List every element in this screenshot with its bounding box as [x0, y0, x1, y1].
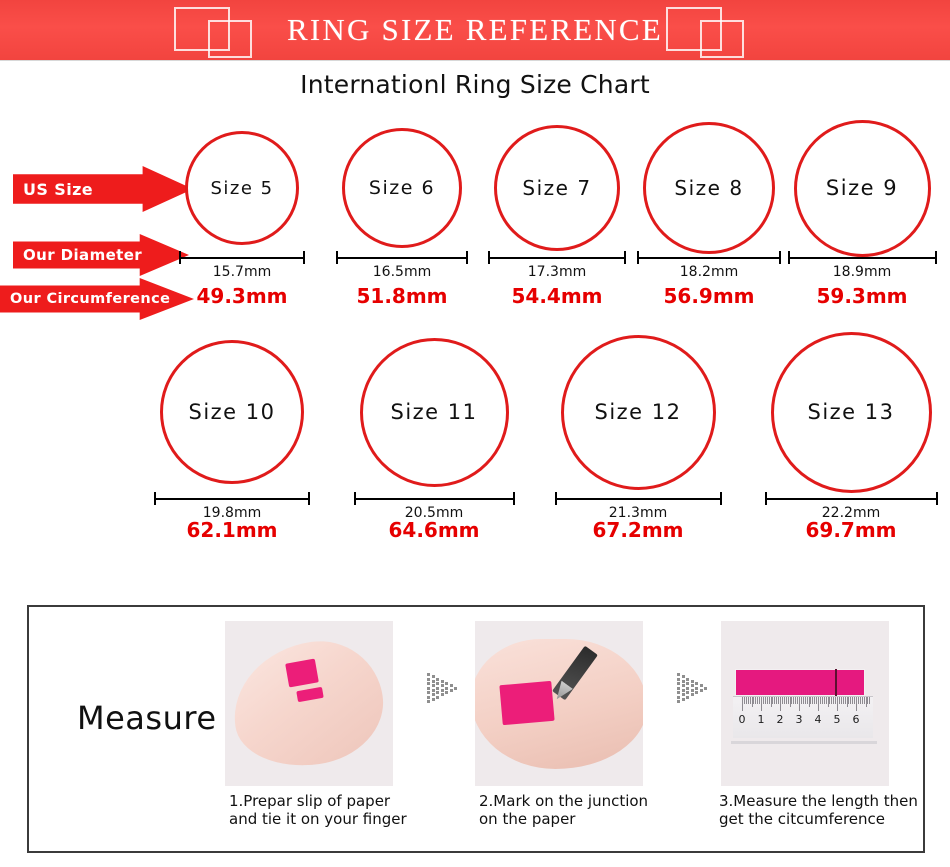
ruler-tick	[845, 697, 846, 704]
ring-size-label: Size 13	[807, 400, 894, 424]
ruler-tick	[772, 697, 773, 704]
separator-dot	[432, 675, 435, 678]
ruler-tick	[797, 697, 798, 704]
separator-dot	[427, 700, 430, 703]
diameter-measure-bar	[555, 492, 722, 505]
ruler-tick	[793, 697, 794, 704]
diameter-measure-bar	[765, 492, 938, 505]
ruler-tick	[761, 697, 762, 711]
diameter-measure-bar	[154, 492, 310, 505]
separator-dot	[450, 689, 453, 692]
circumference-value: 69.7mm	[771, 518, 931, 542]
ruler-tick	[841, 697, 842, 704]
caption-line-1: 1.Prepar slip of paper	[229, 793, 407, 811]
ruler-tick	[867, 697, 868, 704]
ruler-tick	[786, 697, 787, 704]
ruler-number: 2	[777, 713, 784, 726]
diameter-measure-bar	[488, 251, 626, 264]
separator-dot	[677, 700, 680, 703]
ruler-tick	[852, 697, 853, 704]
measure-instructions-panel: Measure 1.Prepar slip of paper and tie i…	[27, 605, 925, 853]
separator-dot	[686, 687, 689, 690]
measure-bar-line	[788, 257, 937, 259]
ruler-tick	[835, 697, 836, 704]
paper-strip	[285, 659, 319, 688]
ruler-tick	[774, 697, 775, 704]
measure-bar-cap-left	[336, 251, 338, 264]
ruler-tick	[748, 697, 749, 704]
hand-with-paper-strip-photo	[225, 621, 393, 786]
measure-bar-cap-right	[624, 251, 626, 264]
circumference-value: 54.4mm	[477, 284, 637, 308]
ruler-tick	[784, 697, 785, 704]
ruler-tick	[860, 697, 861, 704]
measure-bar-cap-left	[788, 251, 790, 264]
measure-bar-cap-right	[466, 251, 468, 264]
separator-dot	[436, 691, 439, 694]
circumference-value: 62.1mm	[152, 518, 312, 542]
separator-dot	[677, 673, 680, 676]
measure-bar-line	[336, 257, 468, 259]
ruler-tick	[795, 697, 796, 704]
ruler-tick	[856, 697, 857, 711]
separator-dot	[700, 689, 703, 692]
measure-bar-line	[555, 498, 722, 500]
diameter-measure-bar	[354, 492, 515, 505]
ruler-tick	[742, 697, 743, 711]
ruler-tick	[750, 697, 751, 704]
ruler-tick	[809, 697, 810, 707]
circumference-value: 59.3mm	[782, 284, 942, 308]
ring-size-label: Size 11	[390, 400, 477, 424]
ring-size-label: Size 8	[674, 176, 743, 200]
ring-circle: Size 6	[342, 128, 462, 248]
caption-line-2: on the paper	[479, 811, 648, 829]
separator-dot	[432, 689, 435, 692]
ruler-tick	[801, 697, 802, 704]
diameter-value: 17.3mm	[487, 264, 627, 280]
ruler-tick	[744, 697, 745, 704]
ruler-tick	[829, 697, 830, 704]
separator-dot	[691, 693, 694, 696]
ring-circle: Size 13	[771, 332, 932, 493]
ring-size-reference-page: RING SIZE REFERENCE Internationl Ring Si…	[0, 0, 950, 867]
separator-dot	[682, 698, 685, 701]
ring-circle: Size 8	[643, 122, 775, 254]
separator-dot	[682, 675, 685, 678]
label-our-circumference-text: Our Circumference	[10, 291, 170, 307]
label-our-diameter-text: Our Diameter	[23, 246, 142, 264]
measure-bar-cap-left	[765, 492, 767, 505]
step-separator-arrow-icon	[427, 673, 461, 707]
ruler-tick	[864, 697, 865, 704]
ruler-tick	[850, 697, 851, 704]
ruler-tick	[858, 697, 859, 704]
separator-dot	[682, 680, 685, 683]
ruler-number: 0	[739, 713, 746, 726]
caption-line-1: 2.Mark on the junction	[479, 793, 648, 811]
diameter-value: 15.7mm	[172, 264, 312, 280]
separator-dot	[682, 684, 685, 687]
ruler-tick	[822, 697, 823, 704]
ruler-number: 1	[758, 713, 765, 726]
ruler-number: 3	[796, 713, 803, 726]
diameter-value: 18.9mm	[792, 264, 932, 280]
ruler-tick	[820, 697, 821, 704]
ruler-tick	[869, 697, 870, 704]
measure-bar-cap-left	[488, 251, 490, 264]
ruler-tick	[866, 697, 867, 707]
separator-dot	[677, 682, 680, 685]
header-divider	[0, 60, 950, 61]
circumference-value: 49.3mm	[162, 284, 322, 308]
separator-dot	[441, 680, 444, 683]
separator-dot	[427, 682, 430, 685]
separator-dot	[427, 673, 430, 676]
pen-mark-line	[835, 669, 837, 696]
separator-dot	[677, 696, 680, 699]
measure-bar-cap-left	[154, 492, 156, 505]
measure-step-3-caption: 3.Measure the length then get the citcum…	[719, 793, 918, 828]
ruler-tick	[810, 697, 811, 704]
measure-step-3: 0123456 3.Measure the length then get th…	[721, 621, 889, 786]
measure-bar-line	[765, 498, 938, 500]
caption-line-2: and tie it on your finger	[229, 811, 407, 829]
circumference-value: 56.9mm	[629, 284, 789, 308]
ruler-tick	[780, 697, 781, 711]
separator-dot	[691, 689, 694, 692]
separator-dot	[686, 696, 689, 699]
separator-dot	[432, 684, 435, 687]
separator-dot	[677, 687, 680, 690]
ruler-tick	[755, 697, 756, 704]
separator-dot	[427, 678, 430, 681]
ruler-tick	[759, 697, 760, 704]
ruler-tick	[833, 697, 834, 704]
separator-dot	[432, 680, 435, 683]
separator-dot	[677, 691, 680, 694]
label-us-size: US Size	[13, 166, 193, 212]
ruler-tick	[771, 697, 772, 707]
separator-dot	[691, 680, 694, 683]
separator-dot	[436, 678, 439, 681]
label-our-diameter: Our Diameter	[13, 234, 189, 276]
paper-strip	[499, 681, 554, 725]
ring-size-label: Size 10	[188, 400, 275, 424]
measure-bar-cap-right	[513, 492, 515, 505]
measure-bar-cap-right	[308, 492, 310, 505]
separator-dot	[686, 682, 689, 685]
measure-bar-cap-left	[354, 492, 356, 505]
separator-dot	[441, 684, 444, 687]
paper-strip-on-ruler-photo: 0123456	[721, 621, 889, 786]
measure-step-1: 1.Prepar slip of paper and tie it on you…	[225, 621, 393, 786]
ruler-tick	[803, 697, 804, 704]
hand-shape	[225, 633, 391, 775]
ruler-number: 4	[815, 713, 822, 726]
separator-dot	[441, 693, 444, 696]
measure-bar-cap-left	[637, 251, 639, 264]
ruler-tick	[799, 697, 800, 711]
separator-dot	[427, 696, 430, 699]
ring-circle: Size 12	[561, 335, 716, 490]
ruler-tick	[843, 697, 844, 704]
separator-dot	[436, 687, 439, 690]
measure-bar-line	[637, 257, 781, 259]
ruler-number: 6	[853, 713, 860, 726]
ring-circle: Size 10	[160, 340, 304, 484]
measure-bar-cap-left	[179, 251, 181, 264]
separator-dot	[677, 678, 680, 681]
circumference-value: 51.8mm	[322, 284, 482, 308]
ring-size-label: Size 12	[594, 400, 681, 424]
ruler-tick	[862, 697, 863, 704]
separator-dot	[450, 684, 453, 687]
measure-step-2-caption: 2.Mark on the junction on the paper	[479, 793, 648, 828]
ruler-tick	[788, 697, 789, 704]
ruler-tick	[839, 697, 840, 704]
ruler-tick	[854, 697, 855, 704]
diameter-measure-bar	[179, 251, 305, 264]
ruler-tick	[778, 697, 779, 704]
separator-dot	[427, 691, 430, 694]
measure-bar-line	[154, 498, 310, 500]
step-separator-arrow-icon	[677, 673, 711, 707]
ruler-tick	[752, 697, 753, 707]
separator-dot	[700, 684, 703, 687]
ruler-tick	[790, 697, 791, 707]
ring-circle: Size 9	[794, 120, 931, 257]
ring-size-label: Size 6	[369, 177, 435, 199]
measure-step-2: 2.Mark on the junction on the paper	[475, 621, 643, 786]
diameter-value: 18.2mm	[639, 264, 779, 280]
ring-size-label: Size 9	[826, 176, 898, 200]
diameter-measure-bar	[336, 251, 468, 264]
measure-bar-line	[488, 257, 626, 259]
ruler-tick	[848, 697, 849, 704]
ruler-tick	[791, 697, 792, 704]
separator-dot	[445, 691, 448, 694]
ring-circle: Size 11	[360, 338, 509, 487]
label-us-size-text: US Size	[23, 180, 93, 199]
ruler-tick	[828, 697, 829, 707]
ring-circle: Size 5	[185, 131, 299, 245]
ruler-tick	[826, 697, 827, 704]
diameter-measure-bar	[637, 251, 781, 264]
diameter-value: 16.5mm	[332, 264, 472, 280]
separator-dot	[682, 693, 685, 696]
ruler-tick	[831, 697, 832, 704]
finger-marked-with-pen-photo	[475, 621, 643, 786]
separator-dot	[445, 687, 448, 690]
ruler-tick	[807, 697, 808, 704]
measure-heading: Measure	[77, 699, 217, 737]
measure-bar-cap-left	[555, 492, 557, 505]
paper-strip	[735, 669, 865, 696]
ruler-tick	[769, 697, 770, 704]
measure-bar-cap-right	[779, 251, 781, 264]
ruler-tick	[837, 697, 838, 711]
circumference-value: 67.2mm	[558, 518, 718, 542]
ruler: 0123456	[733, 696, 873, 738]
ring-circle: Size 7	[494, 125, 620, 251]
measure-bar-cap-right	[935, 251, 937, 264]
caption-line-1: 3.Measure the length then	[719, 793, 918, 811]
ring-size-label: Size 7	[522, 176, 591, 200]
ruler-tick	[812, 697, 813, 704]
ruler-tick	[767, 697, 768, 704]
ruler-tick	[818, 697, 819, 711]
separator-dot	[695, 682, 698, 685]
separator-dot	[432, 698, 435, 701]
header-title: RING SIZE REFERENCE	[0, 0, 950, 60]
ruler-tick	[763, 697, 764, 704]
separator-dot	[427, 687, 430, 690]
measure-bar-line	[179, 257, 305, 259]
ruler-tick	[847, 697, 848, 707]
ruler-tick	[753, 697, 754, 704]
ruler-tick	[816, 697, 817, 704]
page-subtitle: Internationl Ring Size Chart	[0, 70, 950, 99]
separator-dot	[454, 687, 457, 690]
separator-dot	[695, 687, 698, 690]
ruler-tick	[746, 697, 747, 704]
separator-dot	[686, 691, 689, 694]
measure-bar-cap-right	[936, 492, 938, 505]
ruler-tick	[782, 697, 783, 704]
caption-line-2: get the citcumference	[719, 811, 918, 829]
ruler-tick	[824, 697, 825, 704]
separator-dot	[445, 682, 448, 685]
separator-dot	[432, 693, 435, 696]
ruler-tick	[776, 697, 777, 704]
separator-dot	[441, 689, 444, 692]
measure-bar-cap-right	[720, 492, 722, 505]
circumference-value: 64.6mm	[354, 518, 514, 542]
separator-dot	[436, 696, 439, 699]
ring-size-label: Size 5	[210, 178, 273, 199]
ruler-tick	[765, 697, 766, 704]
measure-bar-cap-right	[303, 251, 305, 264]
ruler-tick	[757, 697, 758, 704]
ruler-tick	[814, 697, 815, 704]
separator-dot	[691, 684, 694, 687]
separator-dot	[686, 678, 689, 681]
ruler-base-edge	[731, 741, 877, 744]
separator-dot	[704, 687, 707, 690]
separator-dot	[695, 691, 698, 694]
ruler-tick	[805, 697, 806, 704]
ruler-number: 5	[834, 713, 841, 726]
measure-step-1-caption: 1.Prepar slip of paper and tie it on you…	[229, 793, 407, 828]
header-band: RING SIZE REFERENCE	[0, 0, 950, 60]
separator-dot	[436, 682, 439, 685]
separator-dot	[682, 689, 685, 692]
diameter-measure-bar	[788, 251, 937, 264]
measure-bar-line	[354, 498, 515, 500]
